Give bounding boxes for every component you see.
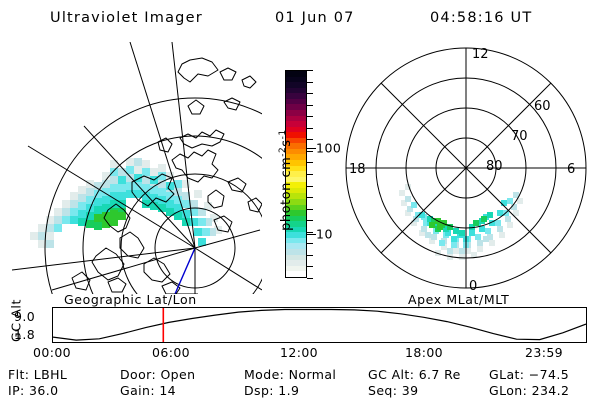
colorbar-minor-tick: [307, 174, 313, 175]
status-value: 36.0: [29, 383, 58, 398]
mlat-label-70: 70: [511, 129, 528, 144]
status-field: Dsp: 1.9: [244, 383, 299, 398]
status-key: Mode:: [244, 367, 289, 382]
geographic-map-svg: [12, 42, 262, 294]
gc-alt-tick-high: 9.0: [14, 309, 35, 324]
colorbar-minor-tick: [307, 255, 313, 256]
status-value: Normal: [289, 367, 337, 382]
colorbar-minor-tick: [307, 128, 313, 129]
status-value: 39: [402, 383, 419, 398]
colorbar-minor-tick: [307, 70, 313, 71]
mlat-label-60: 60: [534, 99, 551, 114]
time-axis-label: 00:00: [33, 345, 71, 360]
instrument-title: Ultraviolet Imager: [50, 10, 203, 26]
status-field: IP: 36.0: [8, 383, 58, 398]
cbar-unit-exp1: -2: [278, 147, 288, 157]
status-value: 234.2: [532, 383, 570, 398]
status-field: Door: Open: [120, 367, 195, 382]
cbar-unit-mid: s: [279, 139, 294, 146]
apex-mlt-panel[interactable]: 12 6 0 18 60 70 80: [335, 40, 597, 296]
time-axis-label: 12:00: [280, 345, 318, 360]
aurora-emission-apex: [399, 184, 523, 260]
status-key: Flt:: [8, 367, 34, 382]
time-axis-label: 23:59: [525, 345, 563, 360]
status-value: 6.7 Re: [419, 367, 461, 382]
observation-date: 01 Jun 07: [275, 10, 355, 26]
status-key: GC Alt:: [368, 367, 419, 382]
mlat-label-80: 80: [486, 159, 503, 174]
colorbar-minor-tick: [307, 209, 313, 210]
mlt-dial-spokes: [346, 48, 586, 288]
colorbar-minor-tick: [307, 82, 313, 83]
mlt-label-6: 6: [567, 162, 575, 177]
status-value: Open: [160, 367, 195, 382]
cbar-unit-main: photon cm: [279, 157, 294, 231]
geographic-map-panel[interactable]: [12, 42, 262, 294]
status-field: Gain: 14: [120, 383, 176, 398]
status-value: −74.5: [529, 367, 569, 382]
colorbar-panel: 10010 photon cm-2s-1: [252, 60, 336, 292]
status-key: GLon:: [489, 383, 532, 398]
mlt-label-12: 12: [472, 47, 489, 62]
status-field: GLon: 234.2: [489, 383, 569, 398]
colorbar-minor-tick: [307, 151, 313, 152]
apex-mlt-svg: 12 6 0 18 60 70 80: [335, 40, 597, 296]
cbar-unit-exp2: -1: [278, 129, 288, 139]
status-value: 14: [159, 383, 176, 398]
mlt-label-18: 18: [349, 162, 366, 177]
status-field: Seq: 39: [368, 383, 418, 398]
colorbar-minor-tick: [307, 232, 313, 233]
altitude-curve: [53, 310, 586, 341]
colorbar-major-tick: [307, 234, 316, 235]
colorbar-band: [286, 271, 306, 277]
status-key: Door:: [120, 367, 160, 382]
status-value: 1.9: [278, 383, 299, 398]
caption-geographic: Geographic Lat/Lon: [64, 292, 197, 307]
time-axis-label: 18:00: [405, 345, 443, 360]
status-field: GLat: −74.5: [489, 367, 569, 382]
colorbar-minor-tick: [307, 162, 313, 163]
colorbar-minor-tick: [307, 220, 313, 221]
colorbar-minor-tick: [307, 278, 313, 279]
status-field: Mode: Normal: [244, 367, 336, 382]
observation-time: 04:58:16 UT: [430, 10, 532, 26]
colorbar-tick-label: 10: [316, 227, 333, 242]
colorbar-minor-tick: [307, 186, 313, 187]
status-key: Gain:: [120, 383, 159, 398]
status-key: IP:: [8, 383, 29, 398]
caption-apex: Apex MLat/MLT: [408, 292, 509, 307]
status-field: GC Alt: 6.7 Re: [368, 367, 461, 382]
colorbar-minor-tick: [307, 243, 313, 244]
status-key: GLat:: [489, 367, 529, 382]
colorbar-minor-tick: [307, 266, 313, 267]
orbit-altitude-strip[interactable]: [52, 307, 587, 343]
colorbar-minor-tick: [307, 139, 313, 140]
colorbar-major-tick: [307, 148, 316, 149]
header-bar: Ultraviolet Imager 01 Jun 07 04:58:16 UT: [0, 4, 600, 30]
gc-alt-tick-low: 1.8: [14, 327, 35, 342]
colorbar-minor-tick: [307, 93, 313, 94]
orbit-altitude-chart: [53, 308, 586, 342]
time-axis-label: 06:00: [152, 345, 190, 360]
colorbar-axis-label: photon cm-2s-1: [278, 110, 294, 250]
colorbar-minor-tick: [307, 116, 313, 117]
colorbar-minor-tick: [307, 197, 313, 198]
status-value: LBHL: [34, 367, 68, 382]
status-key: Dsp:: [244, 383, 278, 398]
colorbar-minor-tick: [307, 105, 313, 106]
status-key: Seq:: [368, 383, 402, 398]
status-field: Flt: LBHL: [8, 367, 67, 382]
